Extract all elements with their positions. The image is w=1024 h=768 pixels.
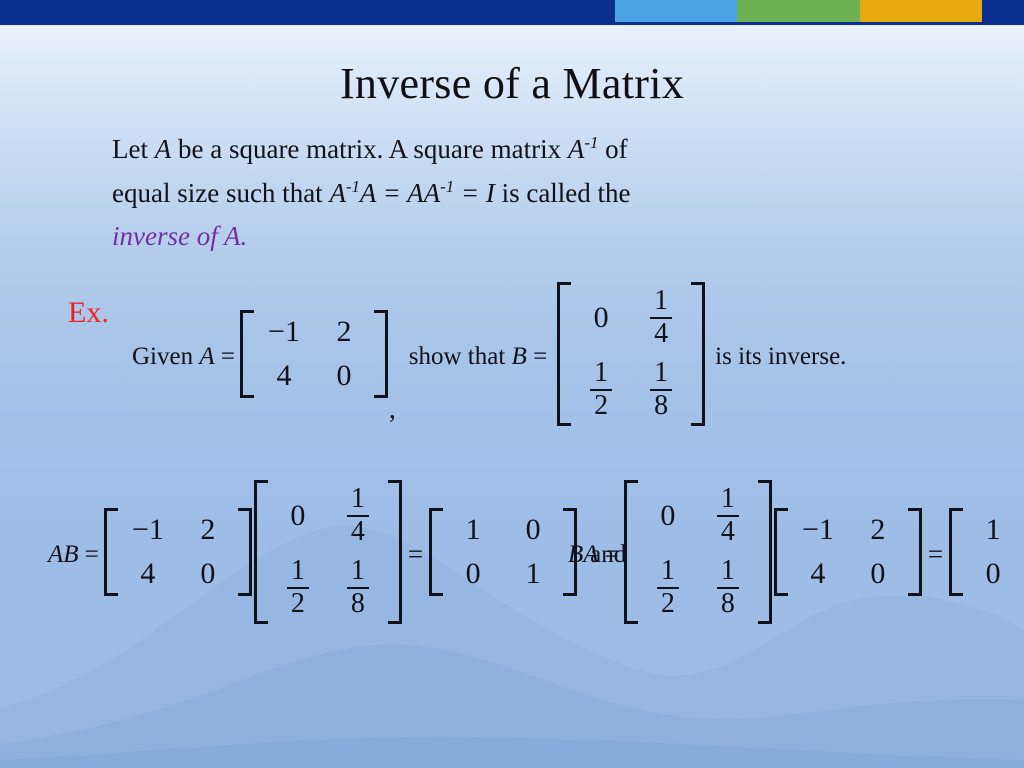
ab-left-matrix-slot: −1240 xyxy=(103,508,253,601)
matrix-cell: 4 xyxy=(118,552,178,596)
matrix-cell-fraction: 14 xyxy=(328,480,388,552)
matrix-left-bracket xyxy=(429,508,443,596)
identity-matrix: 1001 xyxy=(428,508,578,596)
fraction-numerator: 1 xyxy=(347,557,369,587)
matrix-cell: −1 xyxy=(788,508,848,552)
matrix-right-bracket xyxy=(388,480,402,624)
fraction-numerator: 1 xyxy=(650,287,672,317)
matrix-b: 0141218 xyxy=(556,282,706,426)
ba-result-matrix-slot: 1001 xyxy=(948,508,1024,601)
definition-paragraph: Let A be a square matrix. A square matri… xyxy=(112,128,942,259)
matrix-row: 1218 xyxy=(638,552,758,624)
topbar-segment-navy-right xyxy=(982,0,1024,22)
ab-lead: AB = xyxy=(48,541,103,569)
matrix-right-bracket xyxy=(691,282,705,426)
fraction-numerator: 1 xyxy=(717,485,739,515)
fraction-denominator: 4 xyxy=(347,517,369,547)
matrix-cells: −1240 xyxy=(254,310,374,398)
matrix-row: 014 xyxy=(571,282,691,354)
fraction-denominator: 8 xyxy=(717,589,739,619)
definition-line1-part-a: Let xyxy=(112,134,155,164)
matrix-left-bracket xyxy=(949,508,963,596)
show-that-text: show that B = xyxy=(400,343,556,371)
fraction-denominator: 4 xyxy=(650,319,672,349)
matrix-a: −1240 xyxy=(773,508,923,596)
fraction-numerator: 1 xyxy=(657,557,679,587)
matrix-cell-fraction: 12 xyxy=(571,354,631,426)
ab-equals-sign: = xyxy=(403,539,428,570)
matrix-a: −1240 xyxy=(103,508,253,596)
matrix-cell-fraction: 12 xyxy=(268,552,328,624)
definition-line2-part-a: equal size such that xyxy=(112,178,329,208)
matrix-row: −12 xyxy=(788,508,908,552)
matrix-cell: 4 xyxy=(254,354,314,398)
matrix-cells: 0141218 xyxy=(571,282,691,426)
matrix-right-bracket xyxy=(238,508,252,596)
page-title: Inverse of a Matrix xyxy=(0,58,1024,109)
definition-line-2: equal size such that A-1A = AA-1 = I is … xyxy=(112,172,942,216)
topbar-underline xyxy=(0,22,1024,25)
definition-line1-superscript: -1 xyxy=(584,133,598,152)
matrix-row: 1218 xyxy=(268,552,388,624)
definition-line2-superscript-1: -1 xyxy=(346,177,360,196)
matrix-row: 40 xyxy=(118,552,238,596)
matrix-cells: 1001 xyxy=(963,508,1024,596)
matrix-cells: 0141218 xyxy=(268,480,388,624)
matrix-row: −12 xyxy=(254,310,374,354)
example-comma: , xyxy=(389,394,400,431)
matrix-cell: 1 xyxy=(443,508,503,552)
definition-line1-part-c: of xyxy=(598,134,627,164)
matrix-cell: 2 xyxy=(178,508,238,552)
matrix-cell-fraction: 14 xyxy=(631,282,691,354)
definition-line2-math-a-inv: A xyxy=(329,178,346,208)
matrix-cell-fraction: 18 xyxy=(698,552,758,624)
topbar-segment-green xyxy=(737,0,860,22)
matrix-cells: −1240 xyxy=(788,508,908,596)
matrix-row: 014 xyxy=(638,480,758,552)
matrix-left-bracket xyxy=(624,480,638,624)
matrix-cell: −1 xyxy=(254,310,314,354)
matrix-cell: −1 xyxy=(118,508,178,552)
definition-line-3-inverse-of-a: inverse of A. xyxy=(112,215,942,259)
matrix-row: 40 xyxy=(788,552,908,596)
fraction-denominator: 8 xyxy=(650,391,672,421)
fraction-denominator: 2 xyxy=(590,391,612,421)
definition-line2-equals-1: = xyxy=(376,178,407,208)
matrix-cell: 0 xyxy=(848,552,908,596)
slide-canvas: Inverse of a Matrix Let A be a square ma… xyxy=(0,0,1024,768)
matrix-cells: −1240 xyxy=(118,508,238,596)
fraction-denominator: 2 xyxy=(657,589,679,619)
matrix-a: −1240 xyxy=(239,310,389,398)
ba-equals-sign: = xyxy=(923,539,948,570)
ab-right-matrix-slot: 0141218 xyxy=(253,480,403,629)
matrix-cell: 1 xyxy=(503,552,563,596)
matrix-cell: 0 xyxy=(963,552,1023,596)
matrix-left-bracket xyxy=(254,480,268,624)
matrix-cells: 1001 xyxy=(443,508,563,596)
identity-matrix: 1001 xyxy=(948,508,1024,596)
matrix-cell: 0 xyxy=(268,494,328,538)
matrix-b: 0141218 xyxy=(253,480,403,624)
definition-line1-var-a: A xyxy=(155,134,172,164)
matrix-cells: 0141218 xyxy=(638,480,758,624)
example-matrix-b-slot: 0141218 xyxy=(556,282,706,431)
example-statement-row: Given A = −1240 , show that B = 0141218 … xyxy=(132,282,855,431)
ba-left-matrix-slot: 0141218 xyxy=(623,480,773,629)
definition-line2-math-identity: I xyxy=(486,178,495,208)
fraction-numerator: 1 xyxy=(347,485,369,515)
matrix-cell: 0 xyxy=(503,508,563,552)
matrix-left-bracket xyxy=(774,508,788,596)
ba-lead: BA = xyxy=(568,541,623,569)
matrix-cell: 1 xyxy=(963,508,1023,552)
matrix-cell: 0 xyxy=(314,354,374,398)
fraction-denominator: 2 xyxy=(287,589,309,619)
matrix-cell: 0 xyxy=(178,552,238,596)
definition-line1-var-a2: A xyxy=(568,134,585,164)
fraction-numerator: 1 xyxy=(590,359,612,389)
matrix-row: 1218 xyxy=(571,354,691,426)
matrix-right-bracket xyxy=(908,508,922,596)
matrix-b: 0141218 xyxy=(623,480,773,624)
matrix-right-bracket xyxy=(758,480,772,624)
ba-right-matrix-slot: −1240 xyxy=(773,508,923,601)
matrix-row: 01 xyxy=(443,552,563,596)
matrix-row: 014 xyxy=(268,480,388,552)
ba-verification-row: BA = 0141218 −1240 = 1001 xyxy=(568,480,1024,629)
example-matrix-a-slot: −1240 xyxy=(239,310,389,403)
matrix-cell-fraction: 18 xyxy=(328,552,388,624)
topbar-segment-navy-left xyxy=(0,0,615,22)
fraction-denominator: 8 xyxy=(347,589,369,619)
matrix-row: 10 xyxy=(443,508,563,552)
matrix-right-bracket xyxy=(374,310,388,398)
definition-line2-part-b: is called the xyxy=(495,178,631,208)
ab-verification-row: AB = −1240 0141218 = 1001 and xyxy=(48,480,638,629)
example-label: Ex. xyxy=(68,296,109,330)
matrix-left-bracket xyxy=(104,508,118,596)
matrix-cell: 0 xyxy=(571,296,631,340)
matrix-row: 10 xyxy=(963,508,1024,552)
matrix-row: 40 xyxy=(254,354,374,398)
matrix-cell: 0 xyxy=(638,494,698,538)
topbar-segment-light-blue xyxy=(615,0,737,22)
top-color-bar xyxy=(0,0,1024,22)
matrix-row: −12 xyxy=(118,508,238,552)
definition-line2-math-aa: AA xyxy=(407,178,440,208)
topbar-segment-gold xyxy=(860,0,982,22)
definition-line2-math-a: A xyxy=(360,178,376,208)
definition-line1-part-b: be a square matrix. A square matrix xyxy=(171,134,568,164)
fraction-denominator: 4 xyxy=(717,517,739,547)
matrix-cell: 2 xyxy=(848,508,908,552)
given-lead: Given A = xyxy=(132,343,239,371)
definition-line2-superscript-2: -1 xyxy=(440,177,454,196)
fraction-numerator: 1 xyxy=(717,557,739,587)
definition-line2-equals-2: = xyxy=(454,178,486,208)
ab-result-matrix-slot: 1001 xyxy=(428,508,578,601)
matrix-cell: 2 xyxy=(314,310,374,354)
example-tail-text: is its inverse. xyxy=(706,343,855,371)
matrix-cell: 4 xyxy=(788,552,848,596)
matrix-cell-fraction: 18 xyxy=(631,354,691,426)
matrix-row: 01 xyxy=(963,552,1024,596)
definition-line-1: Let A be a square matrix. A square matri… xyxy=(112,128,942,172)
fraction-numerator: 1 xyxy=(650,359,672,389)
matrix-cell: 0 xyxy=(443,552,503,596)
matrix-cell-fraction: 12 xyxy=(638,552,698,624)
fraction-numerator: 1 xyxy=(287,557,309,587)
matrix-cell-fraction: 14 xyxy=(698,480,758,552)
matrix-left-bracket xyxy=(240,310,254,398)
matrix-left-bracket xyxy=(557,282,571,426)
